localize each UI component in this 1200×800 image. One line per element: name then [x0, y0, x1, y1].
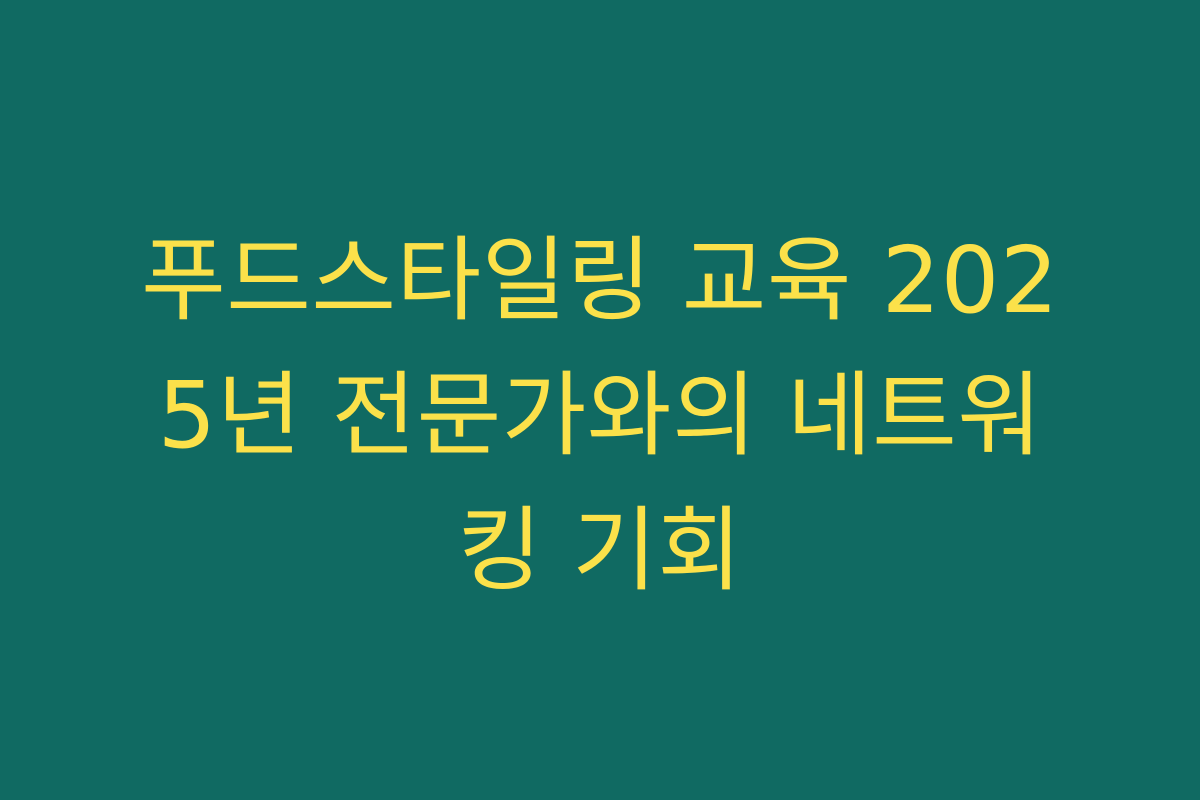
headline-line-1: 푸드스타일링 교육 202 — [95, 213, 1105, 348]
title-card: 푸드스타일링 교육 202 5년 전문가와의 네트워 킹 기회 — [0, 0, 1200, 800]
headline-line-2: 5년 전문가와의 네트워 — [95, 348, 1105, 483]
headline-line-3: 킹 기회 — [95, 483, 1105, 618]
headline-block: 푸드스타일링 교육 202 5년 전문가와의 네트워 킹 기회 — [95, 213, 1105, 618]
page-title: 푸드스타일링 교육 202 5년 전문가와의 네트워 킹 기회 — [95, 213, 1105, 618]
